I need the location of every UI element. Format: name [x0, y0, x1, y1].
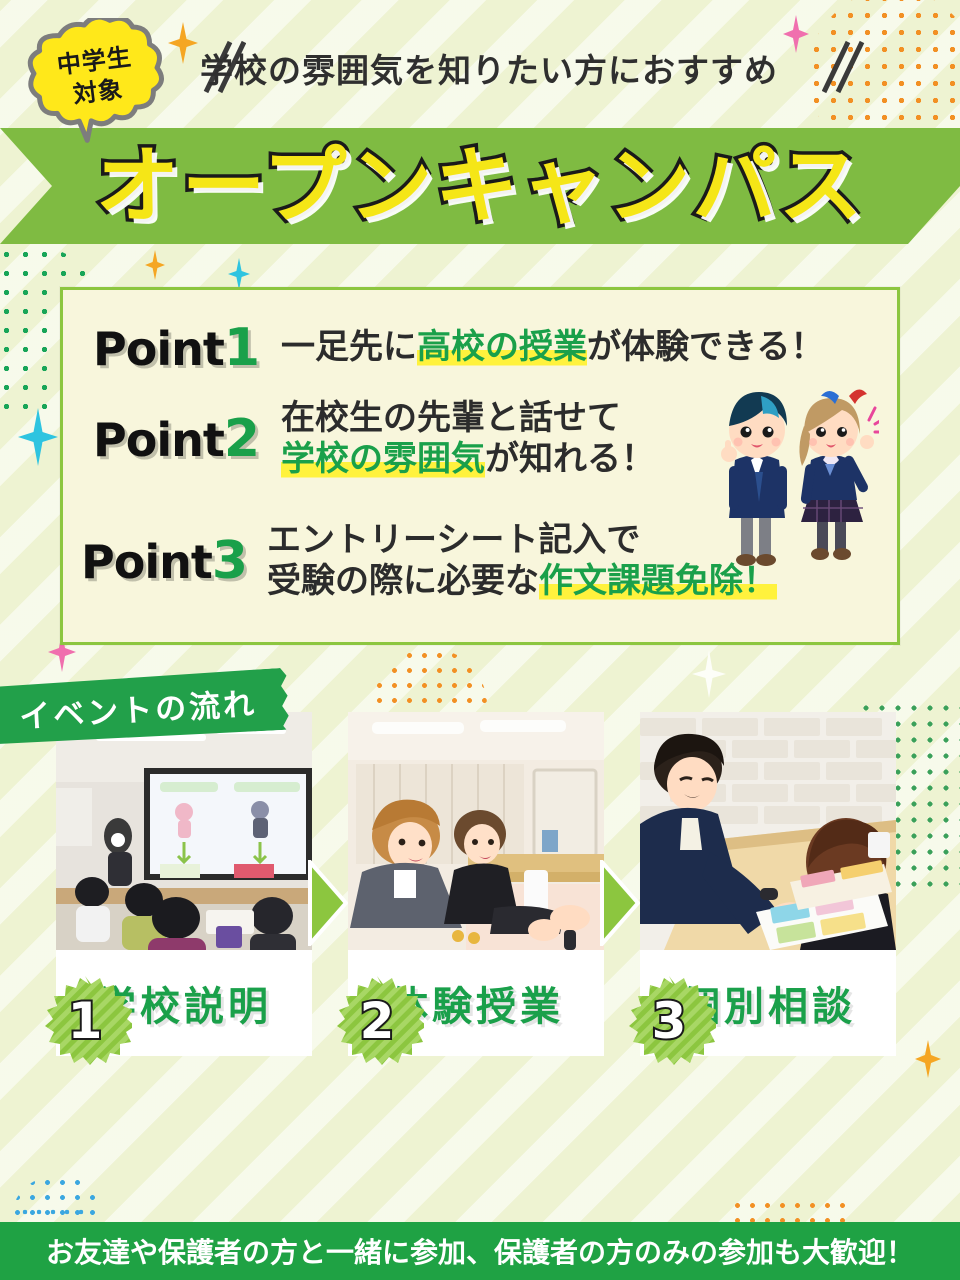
sparkle-icon-orange-3	[915, 1040, 941, 1078]
flow-step-card-2[interactable]: 体験授業 2	[348, 712, 604, 1056]
flow-step-card-3[interactable]: 個別相談 3	[640, 712, 896, 1056]
flow-step-photo-1	[56, 712, 312, 950]
point-segment: が体験できる！	[587, 327, 824, 367]
sparkle-icon-cyan-2	[228, 258, 250, 290]
flow-step-badge-2: 2	[330, 974, 424, 1068]
point-number-1: 1	[224, 318, 259, 378]
point-segment-highlight: 高校の授業	[417, 327, 587, 367]
student-characters-illustration	[699, 368, 879, 578]
flow-step-number-2: 2	[330, 974, 424, 1068]
girl-character	[799, 389, 879, 560]
flow-step-card-1[interactable]: 学校説明 1	[56, 712, 312, 1056]
point-label-2: Point2	[93, 413, 259, 465]
flow-arrow-1	[308, 860, 348, 950]
footer-message: お友達や保護者の方と一緒に参加、保護者の方のみの参加も大歓迎！	[46, 1231, 914, 1271]
target-line-1: 中学生	[55, 42, 133, 82]
sparkle-icon-orange-1	[168, 22, 198, 64]
sparkle-icon-cyan-3	[18, 408, 58, 466]
flow-step-photo-3	[640, 712, 896, 950]
target-audience-label: 中学生 対象	[15, 9, 180, 156]
point-row-2: Point2 在校生の先輩と話せて 学校の雰囲気が知れる！	[93, 398, 655, 481]
flow-banner-label: イベントの流れ	[18, 678, 258, 736]
target-audience-badge: 中学生 対象	[22, 18, 172, 148]
footer-banner: お友達や保護者の方と一緒に参加、保護者の方のみの参加も大歓迎！	[0, 1222, 960, 1280]
point-segment: 在校生の先輩と話せて	[281, 398, 621, 438]
point-text-1: 一足先に高校の授業が体験できる！	[281, 327, 824, 368]
point-text-2: 在校生の先輩と話せて 学校の雰囲気が知れる！	[281, 398, 655, 481]
flow-arrow-2	[600, 860, 640, 950]
point-segment: が知れる！	[485, 439, 655, 479]
point-text-line: 一足先に高校の授業が体験できる！	[281, 327, 824, 368]
flow-step-badge-3: 3	[622, 974, 716, 1068]
point-segment: 受験の際に必要な	[267, 561, 539, 601]
point-text-line: 在校生の先輩と話せて	[281, 398, 655, 439]
point-number-3: 3	[212, 531, 247, 591]
point-label-1: Point1	[93, 322, 259, 374]
point-text-line: 学校の雰囲気が知れる！	[281, 439, 655, 480]
point-segment: 一足先に	[281, 327, 417, 367]
point-row-1: Point1 一足先に高校の授業が体験できる！	[93, 322, 824, 374]
point-word-3: Point	[81, 535, 212, 589]
point-label-3: Point3	[81, 535, 247, 587]
sparkle-icon-white-1	[692, 650, 726, 698]
point-segment: エントリーシート記入で	[267, 520, 640, 560]
header-tagline: 学校の雰囲気を知りたい方におすすめ	[200, 44, 778, 92]
point-number-2: 2	[224, 409, 259, 469]
flow-step-photo-2	[348, 712, 604, 950]
point-word-2: Point	[93, 413, 224, 467]
sparkle-icon-orange-2	[145, 250, 165, 280]
flow-step-number-1: 1	[38, 974, 132, 1068]
point-segment-highlight: 学校の雰囲気	[281, 439, 485, 479]
flow-step-number-3: 3	[622, 974, 716, 1068]
boy-character	[721, 392, 787, 566]
sparkle-icon-pink-1	[783, 15, 809, 53]
point-word-1: Point	[93, 322, 224, 376]
points-panel: Point1 一足先に高校の授業が体験できる！ Point2 在校生の先輩と話せ…	[60, 287, 900, 645]
flow-step-badge-1: 1	[38, 974, 132, 1068]
target-line-2: 対象	[71, 74, 124, 111]
point-row-3: Point3 エントリーシート記入で 受験の際に必要な作文課題免除！	[81, 520, 777, 603]
